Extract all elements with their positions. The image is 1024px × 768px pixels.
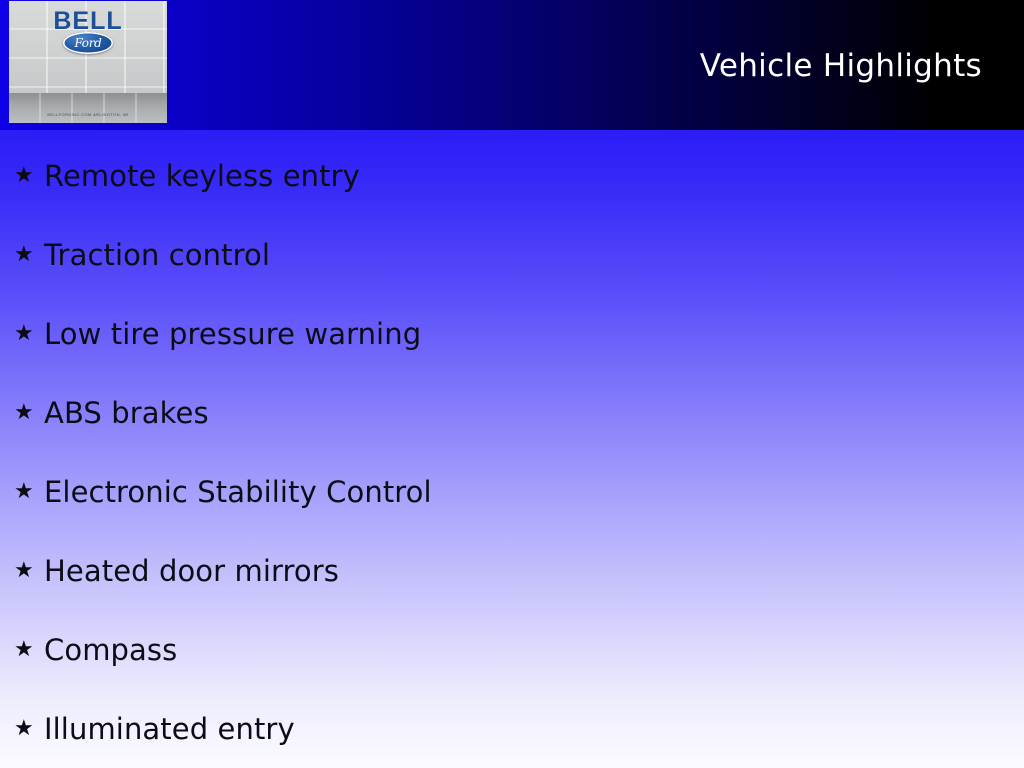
star-bullet-icon: ★: [14, 560, 44, 582]
highlight-item-label: ABS brakes: [44, 396, 209, 430]
highlight-item-label: Illuminated entry: [44, 712, 295, 746]
highlight-item: ★ABS brakes: [14, 393, 209, 433]
highlight-item: ★Low tire pressure warning: [14, 314, 421, 354]
star-bullet-icon: ★: [14, 718, 44, 740]
star-bullet-icon: ★: [14, 639, 44, 661]
star-bullet-icon: ★: [14, 323, 44, 345]
star-bullet-icon: ★: [14, 244, 44, 266]
page-title: Vehicle Highlights: [700, 48, 982, 84]
highlight-item: ★Heated door mirrors: [14, 551, 339, 591]
highlight-item-label: Heated door mirrors: [44, 554, 339, 588]
highlight-item-label: Electronic Stability Control: [44, 475, 432, 509]
vehicle-highlights-list: ★Remote keyless entry★Traction control★L…: [0, 130, 1024, 768]
star-bullet-icon: ★: [14, 402, 44, 424]
dealer-logo-image: BELL Ford BELLFORDINC.COM ARLINGTON, WI: [9, 1, 167, 123]
highlight-item: ★Compass: [14, 630, 177, 670]
highlight-item: ★Remote keyless entry: [14, 156, 360, 196]
highlight-item: ★Traction control: [14, 235, 270, 275]
highlight-item-label: Low tire pressure warning: [44, 317, 421, 351]
star-bullet-icon: ★: [14, 165, 44, 187]
highlight-item-label: Remote keyless entry: [44, 159, 360, 193]
highlight-item-label: Compass: [44, 633, 177, 667]
star-bullet-icon: ★: [14, 481, 44, 503]
vehicle-highlights-slide: Vehicle Highlights BELL Ford BELLFORDINC…: [0, 0, 1024, 768]
highlight-item-label: Traction control: [44, 238, 270, 272]
ford-oval-icon: Ford: [63, 32, 113, 54]
dealer-caption: BELLFORDINC.COM ARLINGTON, WI: [9, 112, 167, 117]
showroom-floor: [9, 93, 167, 123]
ford-oval-label: Ford: [63, 32, 113, 54]
highlight-item: ★Electronic Stability Control: [14, 472, 432, 512]
highlight-item: ★Illuminated entry: [14, 709, 295, 749]
